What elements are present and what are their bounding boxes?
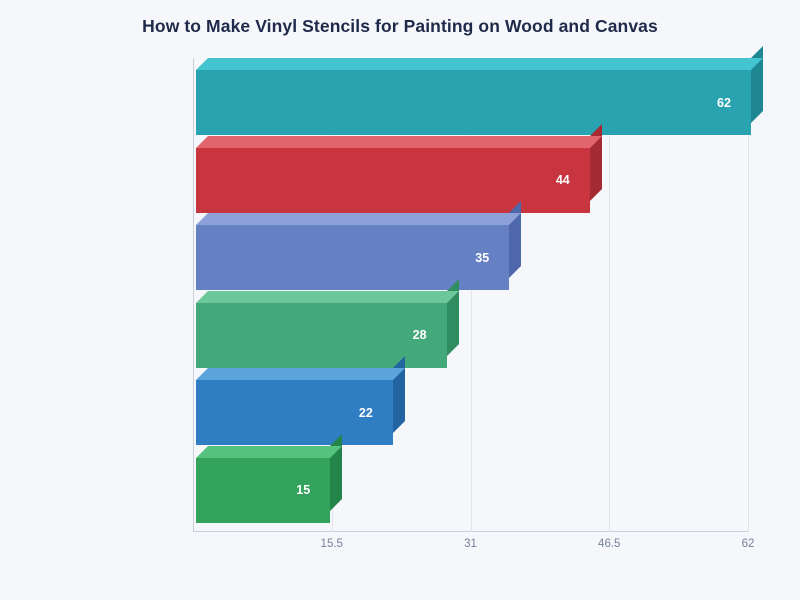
x-tick-label: 62 <box>742 538 755 550</box>
bar-front-face <box>196 225 509 290</box>
x-tick-label: 46.5 <box>598 538 620 550</box>
bar-top-face <box>196 368 405 380</box>
plot-area: 624435282215 15.53146.562 Wood Furniture… <box>193 58 748 536</box>
y-axis-line <box>193 58 194 532</box>
bar-front-face <box>196 303 447 368</box>
bar-top-face <box>196 291 459 303</box>
bar[interactable]: 28 <box>196 303 447 368</box>
bar-value-label: 15 <box>296 483 310 497</box>
bar[interactable]: 35 <box>196 225 509 290</box>
bar[interactable]: 44 <box>196 148 590 213</box>
bar-value-label: 62 <box>717 96 731 110</box>
bar-top-face <box>196 136 602 148</box>
chart-title: How to Make Vinyl Stencils for Painting … <box>0 16 800 37</box>
bar-top-face <box>196 213 521 225</box>
bar-value-label: 28 <box>413 328 427 342</box>
bar-top-face <box>196 446 342 458</box>
bar-value-label: 44 <box>556 173 570 187</box>
bar[interactable]: 15 <box>196 458 330 523</box>
bar-front-face <box>196 70 751 135</box>
bar-top-face <box>196 58 763 70</box>
bar-value-label: 35 <box>475 251 489 265</box>
bar[interactable]: 62 <box>196 70 751 135</box>
bar-front-face <box>196 148 590 213</box>
bar-chart: How to Make Vinyl Stencils for Painting … <box>0 0 800 600</box>
bar[interactable]: 22 <box>196 380 393 445</box>
bar-value-label: 22 <box>359 406 373 420</box>
x-tick-label: 15.5 <box>321 538 343 550</box>
x-tick-label: 31 <box>464 538 477 550</box>
